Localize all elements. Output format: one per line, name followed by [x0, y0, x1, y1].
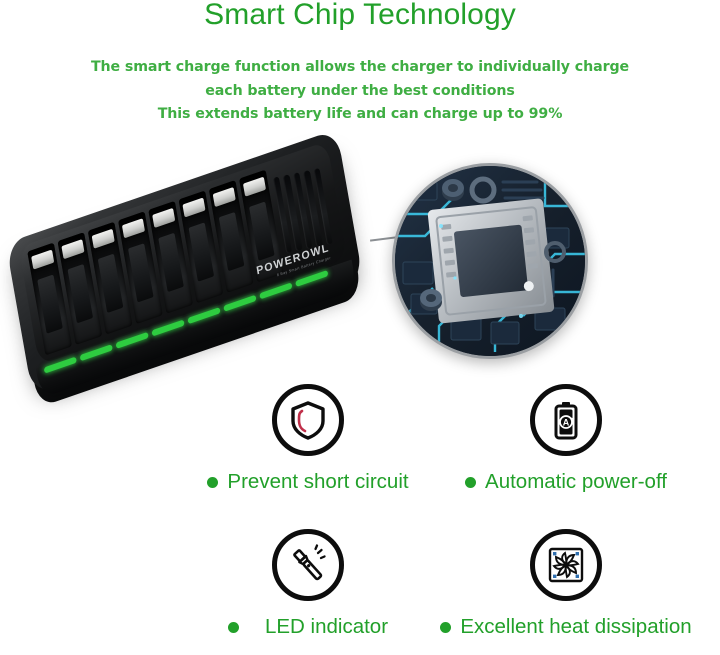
led-indicator	[223, 295, 256, 312]
description-line-3: This extends battery life and can charge…	[0, 103, 720, 127]
feature-led-indicator: LED indicator	[168, 529, 448, 639]
smart-chip-closeup	[392, 163, 588, 359]
bullet-dot	[228, 622, 239, 633]
vent-slots	[273, 168, 333, 254]
battery-auto-icon: A	[530, 384, 602, 456]
feature-label-text: Excellent heat dissipation	[460, 615, 691, 639]
feature-label-text: Automatic power-off	[485, 470, 667, 494]
flashlight-icon	[272, 529, 344, 601]
feature-label: Excellent heat dissipation	[426, 615, 706, 639]
led-indicator	[44, 357, 77, 374]
bullet-dot	[207, 477, 218, 488]
bullet-dot	[440, 622, 451, 633]
led-indicator	[151, 319, 184, 336]
feature-label-text: Prevent short circuit	[227, 470, 408, 494]
description-line-1: The smart charge function allows the cha…	[0, 56, 720, 80]
shield-icon	[272, 384, 344, 456]
feature-label: Automatic power-off	[426, 470, 706, 494]
led-indicator	[259, 282, 292, 299]
product-image: POWEROWL 8 Bay Smart Battery Charger	[2, 168, 382, 413]
battery-charger-device: POWEROWL 8 Bay Smart Battery Charger	[6, 129, 369, 422]
led-indicator	[295, 270, 328, 287]
description-line-2: each battery under the best conditions	[0, 80, 720, 104]
circuit-board-graphic	[395, 166, 585, 356]
capacitor	[442, 179, 464, 201]
feature-excellent-heat-dissipation: Excellent heat dissipation	[426, 529, 706, 639]
page-title: Smart Chip Technology	[0, 0, 720, 33]
feature-label: LED indicator	[168, 615, 448, 639]
bullet-dot	[465, 477, 476, 488]
fan-icon	[530, 529, 602, 601]
feature-prevent-short-circuit: Prevent short circuit	[168, 384, 448, 494]
svg-text:A: A	[563, 417, 570, 427]
led-indicator	[80, 344, 113, 361]
feature-label-text: LED indicator	[265, 615, 388, 639]
feature-label: Prevent short circuit	[168, 470, 448, 494]
description-block: The smart charge function allows the cha…	[0, 56, 720, 127]
feature-automatic-power-off: A Automatic power-off	[426, 384, 706, 494]
led-indicator	[116, 332, 149, 349]
capacitor	[420, 289, 442, 311]
led-indicator	[187, 307, 220, 324]
